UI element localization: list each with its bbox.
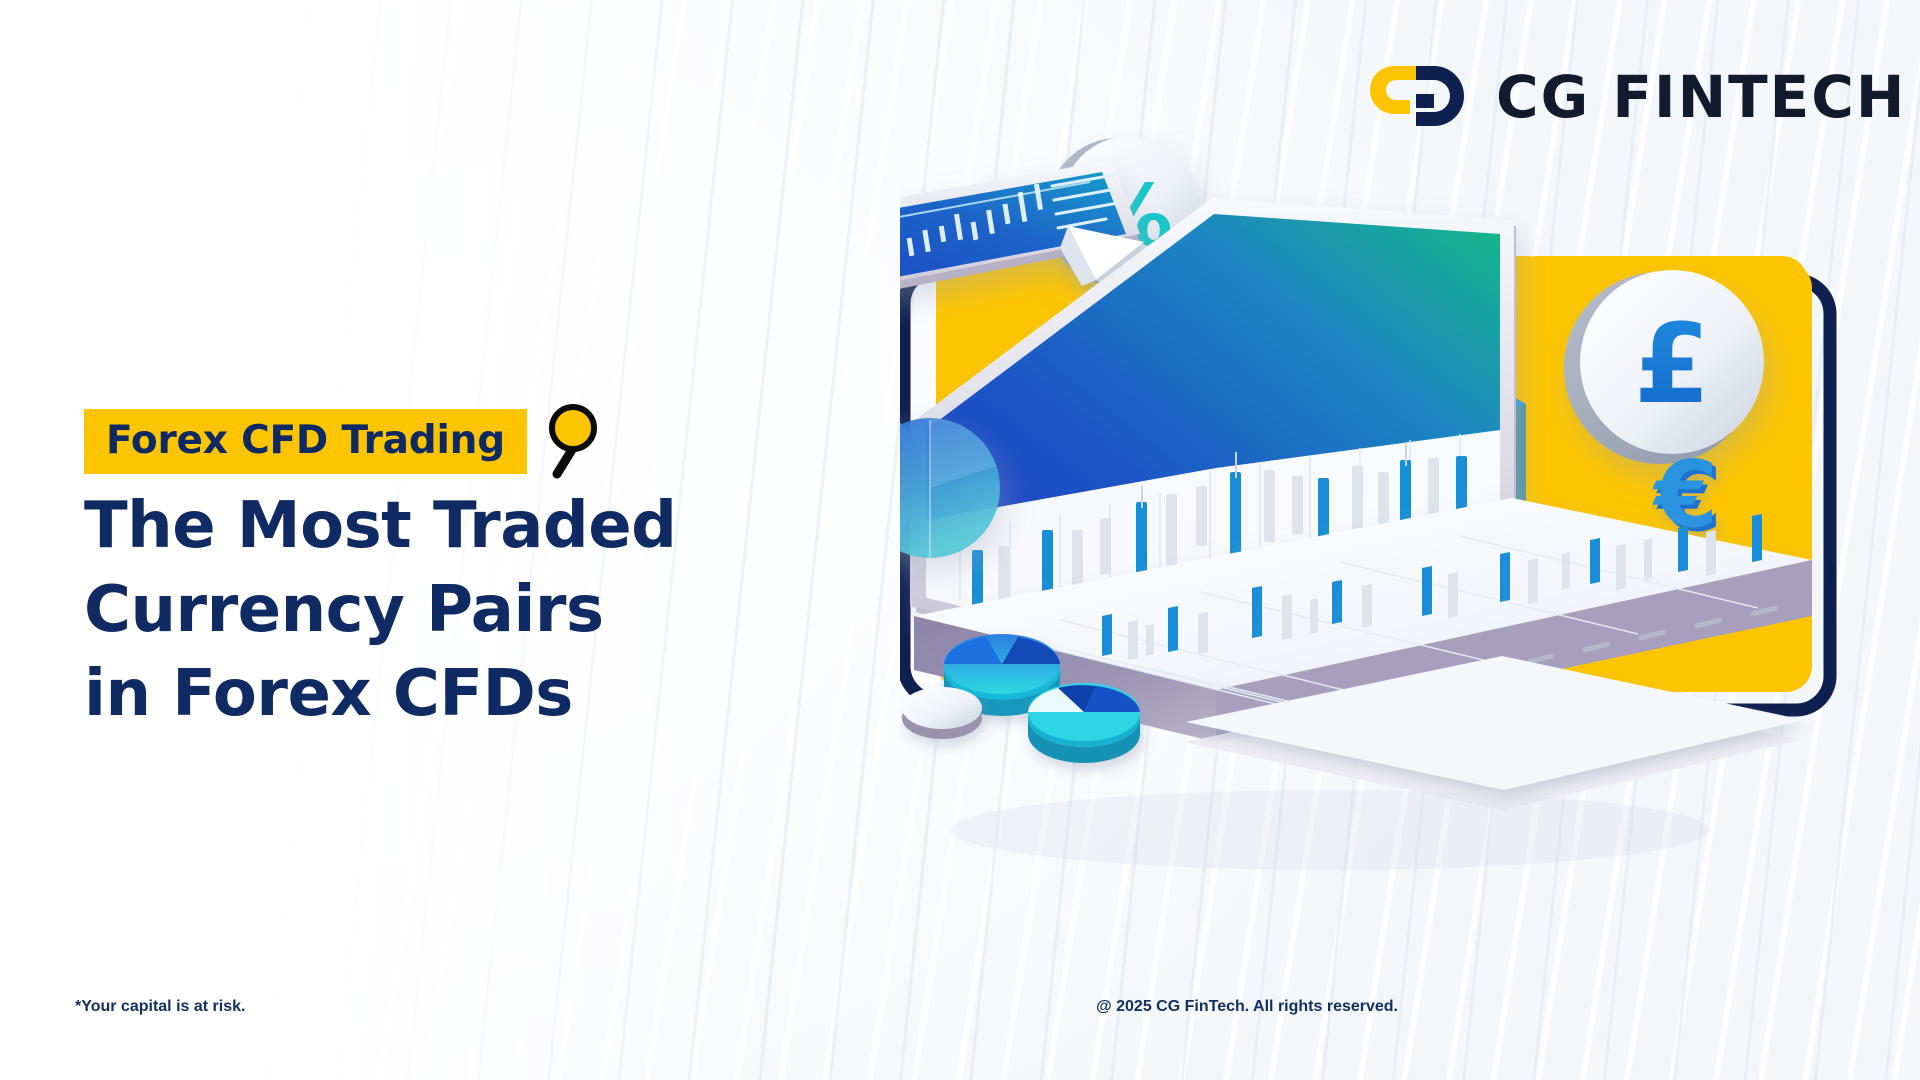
ground-shadow [950, 790, 1710, 870]
eyebrow-row: Forex CFD Trading [84, 404, 597, 478]
risk-disclaimer: *Your capital is at risk. [75, 998, 245, 1016]
pie-chart-icon-b [1028, 683, 1140, 763]
eyebrow-highlight: Forex CFD Trading [84, 409, 527, 474]
magnifier-icon [535, 404, 597, 478]
grey-coin-b [902, 687, 982, 739]
brand-wordmark: CG FINTECH [1496, 68, 1906, 126]
copyright-notice: @ 2025 CG FinTech. All rights reserved. [1096, 998, 1398, 1016]
headline-line-3: in Forex CFDs [84, 652, 784, 736]
brand-logo[interactable]: CG FINTECH [1370, 58, 1906, 136]
hero-banner: CG FINTECH Forex CFD Trading The Most Tr… [0, 0, 1920, 1080]
page-title: The Most Traded Currency Pairs in Forex … [84, 484, 784, 736]
svg-text:£: £ [1634, 300, 1711, 428]
headline-line-2: Currency Pairs [84, 568, 784, 652]
headline-line-1: The Most Traded [84, 484, 784, 568]
3d-forex-trading-scene: £ € € % [900, 130, 1910, 920]
cg-interlock-icon [1370, 58, 1470, 136]
eyebrow-label: Forex CFD Trading [106, 418, 505, 463]
